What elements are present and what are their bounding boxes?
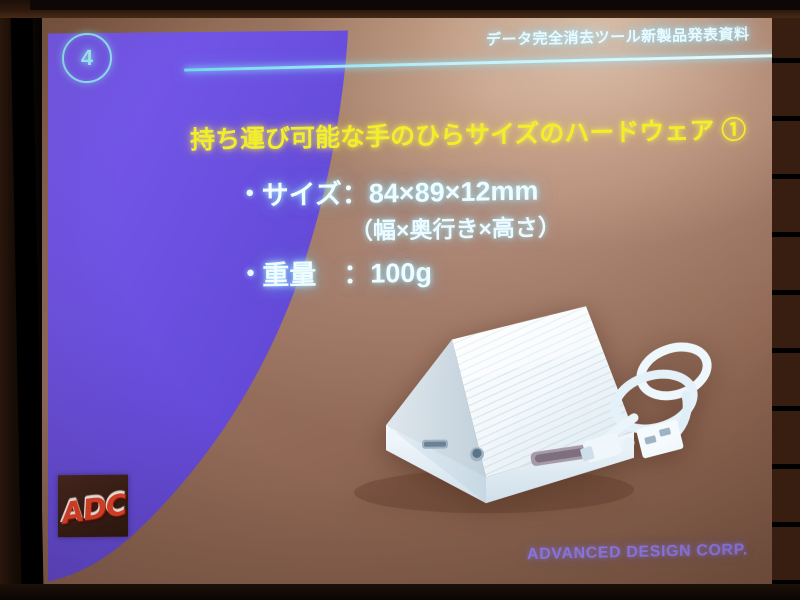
bullet-dot-icon: • [245,179,261,209]
slide-header-text: データ完全消去ツール新製品発表資料 [486,23,750,50]
indicator-hole-icon [470,447,484,461]
slide-number-badge: 4 [62,33,112,83]
bullet-dot-icon: • [246,259,262,289]
slide-footer-text: ADVANCED DESIGN CORP. [527,541,748,564]
projected-slide-photo: 4 ADC データ完全消去ツール新製品発表資料 持ち運び可能な手のひらサイズのハ… [0,0,800,600]
adc-logo-text: ADC [59,487,128,530]
mini-usb-port-icon [422,440,448,449]
bullet-subtext: （幅×奥行き×高さ） [350,211,561,247]
adc-logo: ADC [58,475,128,538]
slide-surface: 4 ADC データ完全消去ツール新製品発表資料 持ち運び可能な手のひらサイズのハ… [34,8,772,591]
bullet-text: サイズ：84×89×12mm [261,174,538,213]
product-photo [334,279,754,543]
list-item: • サイズ：84×89×12mm [245,173,560,213]
screen-frame-left [0,0,42,600]
screen-frame-bottom [0,584,800,600]
slide-number-value: 4 [81,45,93,71]
